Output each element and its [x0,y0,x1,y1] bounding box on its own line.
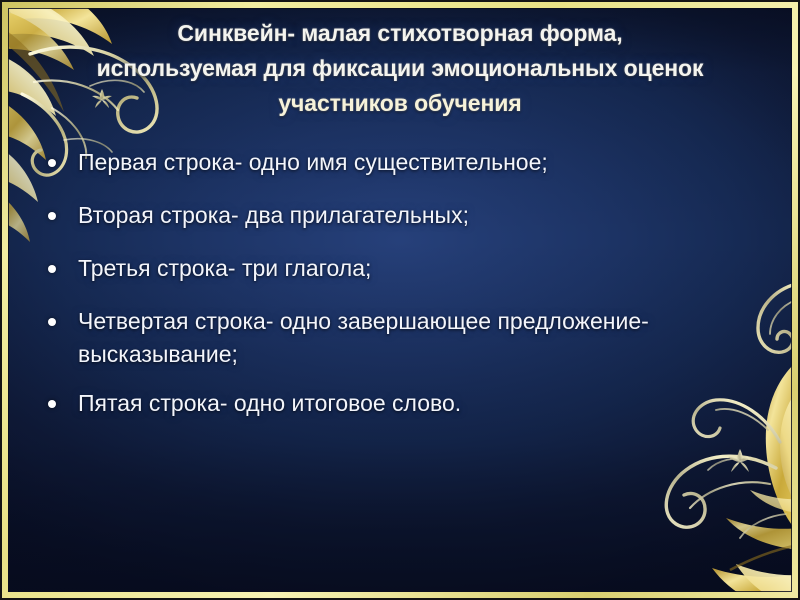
list-item: Первая строка- одно имя существительное; [36,146,766,179]
list-item-label: Вторая строка- два прилагательных; [78,202,469,228]
list-item: Четвертая строка- одно завершающее предл… [36,305,766,371]
title-line-3: участников обучения [28,86,772,121]
list-item: Пятая строка- одно итоговое слово. [36,387,766,420]
presentation-slide: Синквейн- малая стихотворная форма, испо… [0,0,800,600]
list-item-label: Первая строка- одно имя существительное; [78,149,548,175]
list-item-label: Третья строка- три глагола; [78,255,371,281]
bullet-dot-icon [48,318,56,326]
list-item: Третья строка- три глагола; [36,252,766,285]
list-item-label: Пятая строка- одно итоговое слово. [78,390,461,416]
bullet-dot-icon [48,400,56,408]
bullet-dot-icon [48,159,56,167]
bullet-list: Первая строка- одно имя существительное;… [36,146,766,440]
bullet-dot-icon [48,212,56,220]
list-item-label: Четвертая строка- одно завершающее предл… [78,308,649,367]
title-line-1: Синквейн- малая стихотворная форма, [28,16,772,51]
bullet-dot-icon [48,265,56,273]
list-item: Вторая строка- два прилагательных; [36,199,766,232]
slide-title: Синквейн- малая стихотворная форма, испо… [28,16,772,121]
title-line-2: используемая для фиксации эмоциональных … [28,51,772,86]
